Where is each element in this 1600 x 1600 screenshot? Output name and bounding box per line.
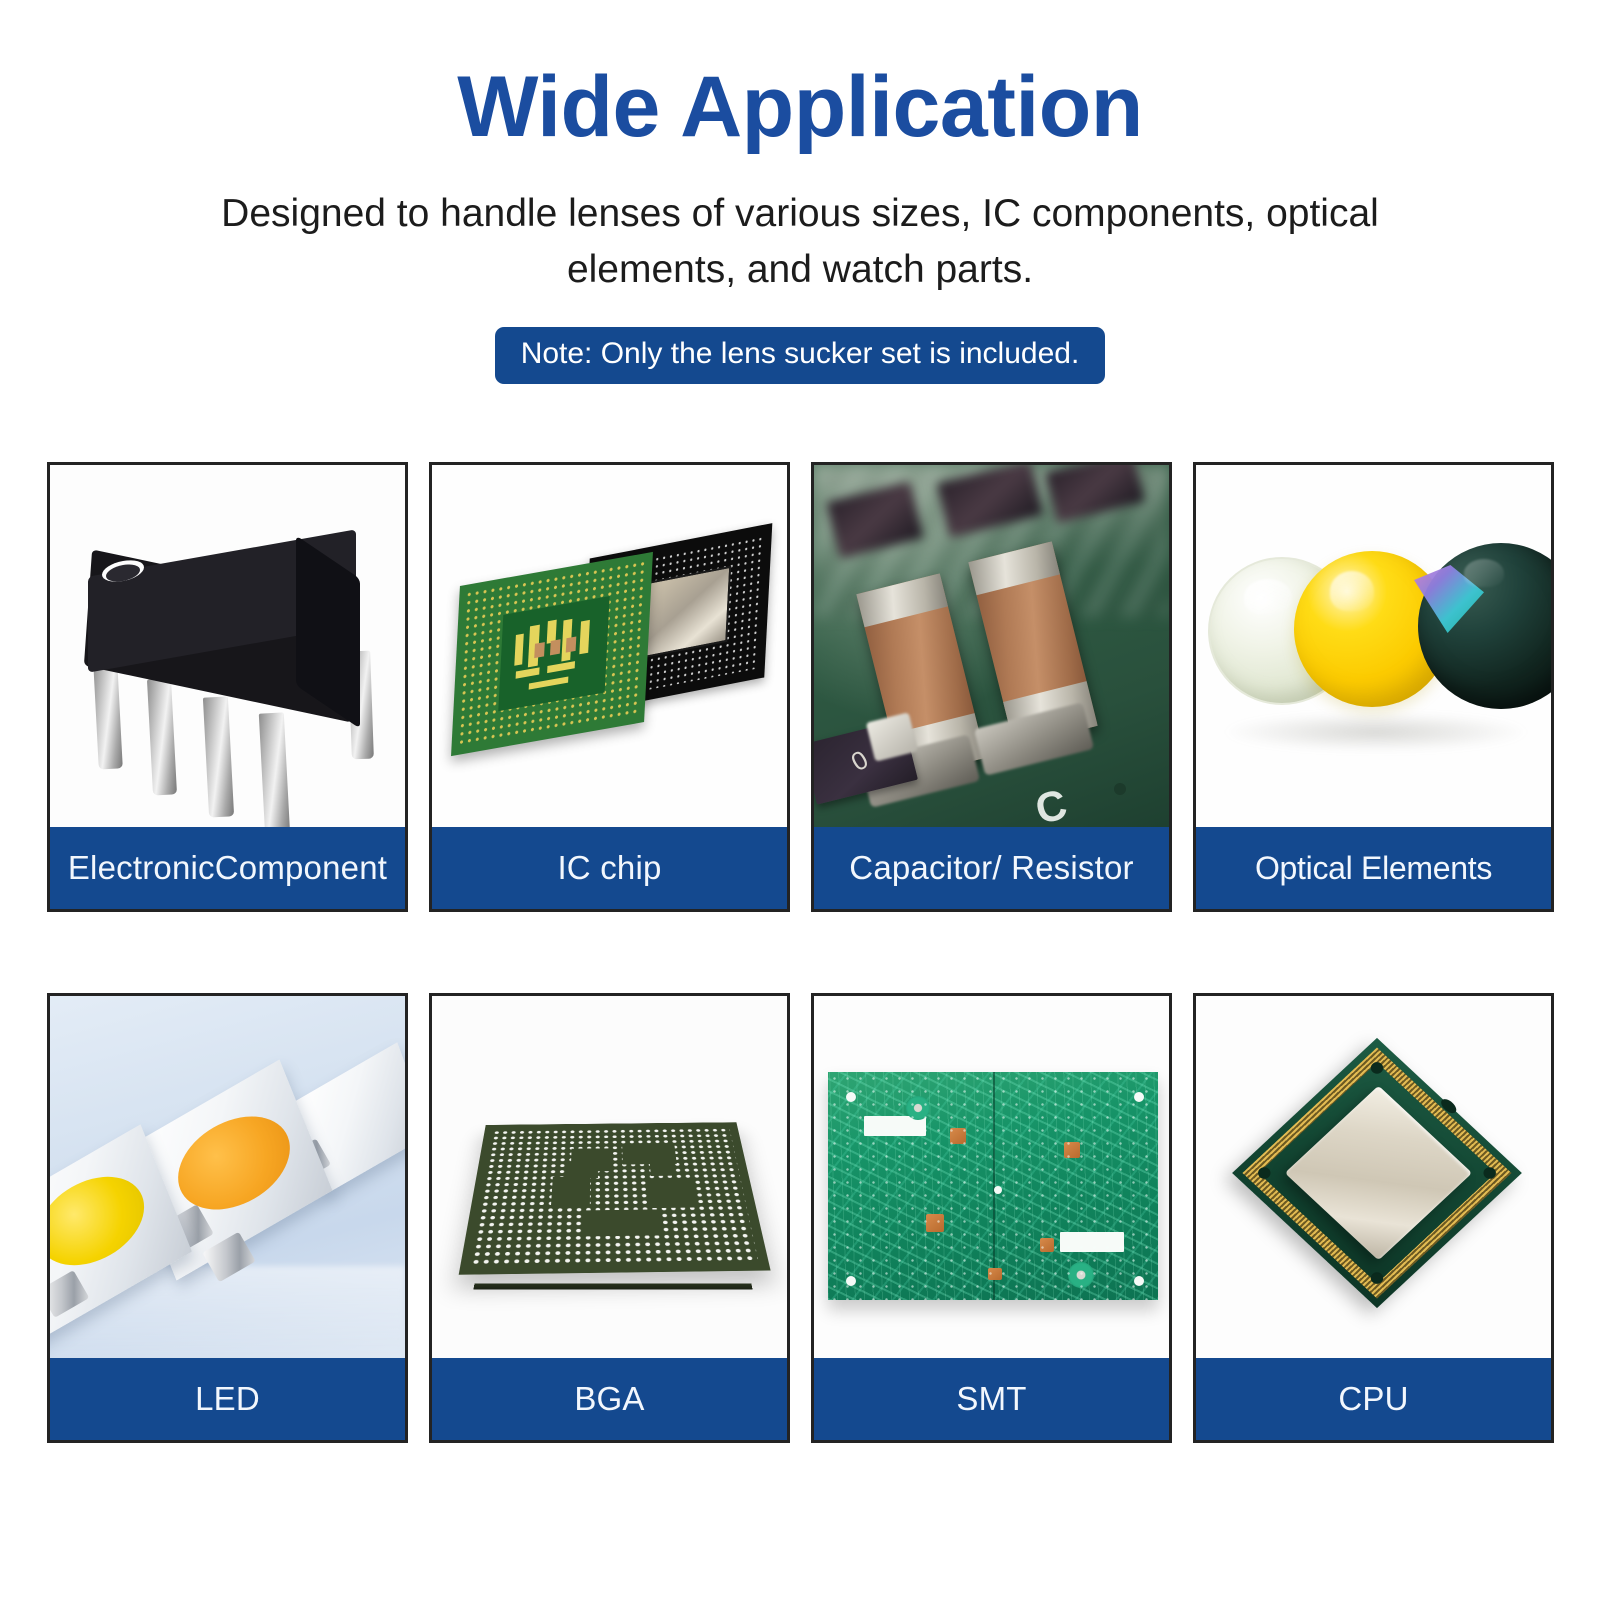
- header-section: Wide Application Designed to handle lens…: [0, 0, 1600, 384]
- cpu-substrate: [1232, 1038, 1522, 1308]
- cpu-illustration: [1196, 996, 1551, 1358]
- photo-bga-ball-grid: [432, 996, 787, 1358]
- photo-lens-trio: [1196, 465, 1551, 827]
- application-card-optical-elements[interactable]: Optical Elements: [1193, 462, 1554, 912]
- card-label-capacitor-resistor: Capacitor/ Resistor: [814, 827, 1169, 909]
- photo-lga-cpu: [1196, 996, 1551, 1358]
- bga-illustration: [432, 996, 787, 1358]
- note-badge: Note: Only the lens sucker set is includ…: [495, 327, 1106, 384]
- application-card-bga[interactable]: BGA: [429, 993, 790, 1443]
- application-card-ic-chip[interactable]: IC chip: [429, 462, 790, 912]
- dark-coated-lens: [1418, 543, 1551, 709]
- card-label-smt: SMT: [814, 1358, 1169, 1440]
- processor-die: [643, 566, 731, 659]
- green-pga-package: [451, 552, 653, 756]
- dip-illustration: [50, 465, 405, 827]
- bga-package: [459, 1122, 771, 1275]
- ic-chip-illustration: [432, 465, 787, 827]
- application-card-cpu[interactable]: CPU: [1193, 993, 1554, 1443]
- card-row-1: ElectronicComponent: [47, 462, 1554, 912]
- pcb-panel: [828, 1072, 1158, 1300]
- application-card-electronic-component[interactable]: ElectronicComponent: [47, 462, 408, 912]
- application-card-capacitor-resistor[interactable]: C Capacitor/ Resistor: [811, 462, 1172, 912]
- card-label-ic-chip: IC chip: [432, 827, 787, 909]
- photo-pga-processors: [432, 465, 787, 827]
- pcb-silkscreen-text: C: [1031, 780, 1072, 827]
- photo-green-pcb-panel: [814, 996, 1169, 1358]
- card-label-optical-elements: Optical Elements: [1196, 827, 1551, 909]
- application-card-smt[interactable]: SMT: [811, 993, 1172, 1443]
- card-label-bga: BGA: [432, 1358, 787, 1440]
- card-row-2: LED: [47, 993, 1554, 1443]
- pcb-macro-illustration: C: [814, 465, 1169, 827]
- card-label-led: LED: [50, 1358, 405, 1440]
- optical-lens-illustration: [1196, 465, 1551, 827]
- application-card-grid: ElectronicComponent: [47, 462, 1554, 1443]
- photo-smd-capacitors-pcb: C: [814, 465, 1169, 827]
- application-card-led[interactable]: LED: [47, 993, 408, 1443]
- photo-smd-leds: [50, 996, 405, 1358]
- led-illustration: [50, 996, 405, 1358]
- card-label-cpu: CPU: [1196, 1358, 1551, 1440]
- page-title: Wide Application: [0, 62, 1600, 152]
- page-subtitle: Designed to handle lenses of various siz…: [170, 186, 1430, 297]
- photo-dip-package: [50, 465, 405, 827]
- pga-core-area: [498, 596, 609, 711]
- card-label-electronic-component: ElectronicComponent: [50, 827, 405, 909]
- smt-illustration: [814, 996, 1169, 1358]
- infographic-page: Wide Application Designed to handle lens…: [0, 0, 1600, 1600]
